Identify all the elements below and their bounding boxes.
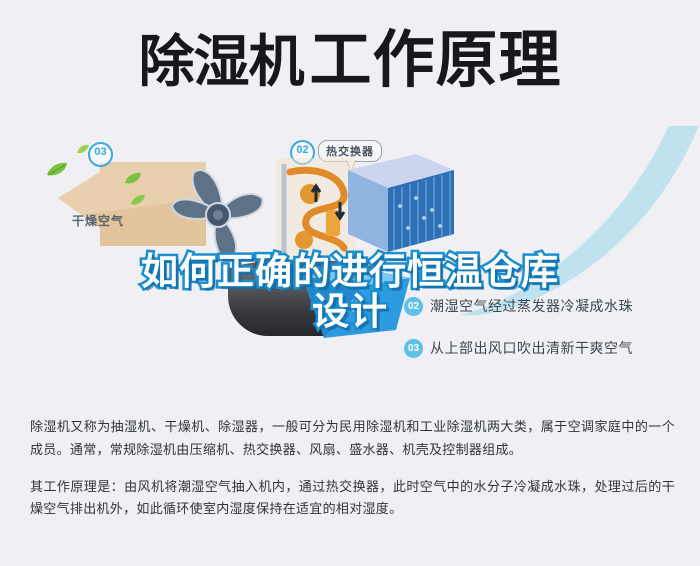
heat-exchanger-icon bbox=[340, 148, 460, 260]
dry-air-label: 干燥空气 bbox=[72, 212, 124, 229]
badge-dry-air: 03 bbox=[88, 142, 113, 167]
paragraph-2: 其工作原理是：由风机将潮湿空气抽入机内，通过热交换器，此时空气中的水分子冷凝成水… bbox=[30, 476, 675, 522]
leaf-icon bbox=[130, 194, 146, 206]
paragraph-1: 除湿机又称为抽湿机、干燥机、除湿器，一般可分为民用除湿机和工业除湿机两大类，属于… bbox=[30, 416, 675, 462]
body-copy: 除湿机又称为抽湿机、干燥机、除湿器，一般可分为民用除湿机和工业除湿机两大类，属于… bbox=[30, 416, 675, 521]
step-text: 从上部出风口吹出清新干爽空气 bbox=[430, 338, 633, 358]
fan-icon bbox=[158, 160, 278, 270]
poster-canvas: 除湿机工作原理 03 干燥空气 01 潮湿空气 bbox=[0, 0, 700, 566]
step-text: 潮湿空气经过蒸发器冷凝成水珠 bbox=[430, 296, 633, 316]
compressor-label: 压缩机 bbox=[255, 260, 293, 275]
list-item: 03 从上部出风口吹出清新干爽空气 bbox=[404, 338, 700, 358]
step-number: 03 bbox=[404, 339, 423, 358]
page-title-part1: 除湿机 bbox=[138, 30, 303, 93]
list-item: 02 潮湿空气经过蒸发器冷凝成水珠 bbox=[404, 296, 700, 316]
leaf-icon bbox=[124, 172, 142, 185]
step-list: 02 潮湿空气经过蒸发器冷凝成水珠 03 从上部出风口吹出清新干爽空气 bbox=[404, 296, 700, 380]
step-number: 02 bbox=[404, 297, 423, 316]
dehumidifier-unit: 压缩机 水箱 bbox=[150, 140, 430, 390]
page-title: 除湿机工作原理 bbox=[0, 30, 700, 92]
page-title-part2: 工作原理 bbox=[309, 26, 561, 95]
leaf-icon bbox=[46, 162, 68, 178]
water-tank-label: 水箱 bbox=[338, 298, 362, 314]
